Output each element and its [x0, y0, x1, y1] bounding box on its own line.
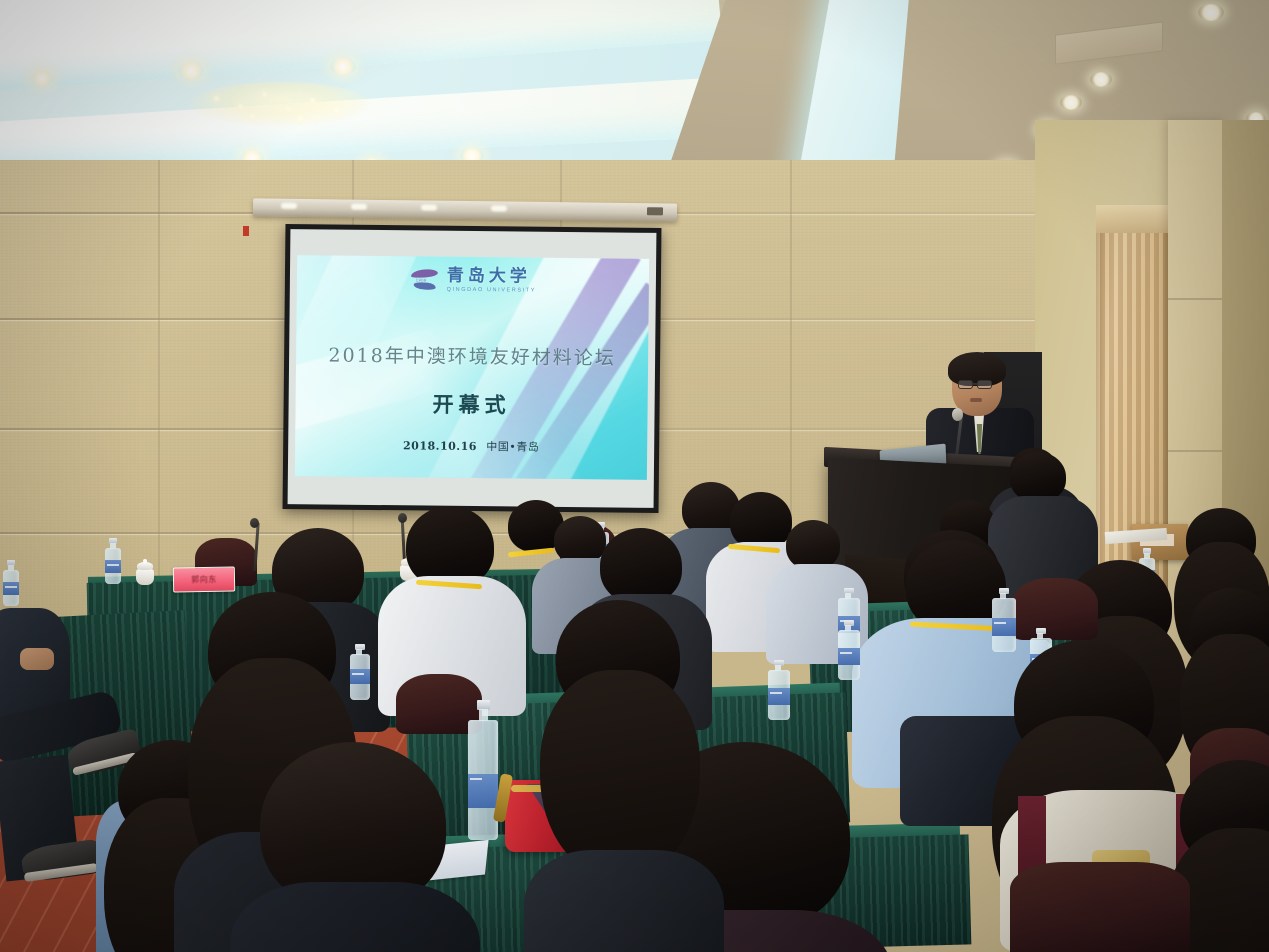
slide-location: 中国•青岛 [486, 440, 539, 454]
wall-sensor-icon [243, 226, 249, 236]
downlight [178, 62, 204, 79]
water-bottle [350, 644, 370, 700]
water-bottle [105, 538, 121, 584]
screen-control-box [647, 207, 663, 215]
name-placard-text: 郭向东 [191, 574, 217, 585]
logo-english-name: QINGDAO UNIVERSITY [447, 286, 536, 293]
downlight [1060, 95, 1082, 110]
microphone-head-icon [250, 518, 259, 528]
logo-chinese-name: 青岛大学 [447, 267, 531, 285]
conference-hall-photo: 1909 青岛大学 QINGDAO UNIVERSITY 2018年中澳环境友好… [0, 0, 1269, 952]
name-placard: 郭向东 [173, 566, 235, 592]
screen-surface: 1909 青岛大学 QINGDAO UNIVERSITY 2018年中澳环境友好… [288, 229, 657, 508]
hand [20, 648, 54, 670]
water-bottle [992, 588, 1016, 656]
chair-back [1010, 862, 1190, 952]
water-bottle [838, 620, 860, 682]
microphone-head-icon [398, 513, 407, 523]
microphone-head-icon [952, 408, 963, 421]
slide-title: 2018年中澳环境友好材料论坛 [296, 340, 648, 371]
presentation-slide: 1909 青岛大学 QINGDAO UNIVERSITY 2018年中澳环境友好… [295, 255, 649, 480]
projection-screen: 1909 青岛大学 QINGDAO UNIVERSITY 2018年中澳环境友好… [283, 224, 662, 513]
water-bottle [768, 660, 790, 722]
curtain-valance [1096, 205, 1168, 233]
slide-date-location: 2018.10.16 中国•青岛 [295, 436, 647, 456]
slide-subtitle: 开幕式 [295, 387, 647, 421]
lidded-teacup [136, 562, 154, 586]
slide-date: 2018.10.16 [403, 439, 477, 453]
crystal-chandelier [190, 82, 370, 126]
university-emblem-icon: 1909 [410, 264, 440, 294]
downlight [1090, 72, 1112, 87]
chair-back [1012, 578, 1098, 640]
water-bottle [3, 560, 19, 606]
downlight [1198, 4, 1224, 21]
qingdao-university-logo: 1909 青岛大学 QINGDAO UNIVERSITY [410, 264, 537, 295]
logo-year: 1909 [416, 277, 427, 282]
glasses-icon [958, 380, 973, 389]
glasses-icon [977, 380, 992, 389]
downlight [30, 70, 54, 86]
downlight [330, 58, 356, 75]
